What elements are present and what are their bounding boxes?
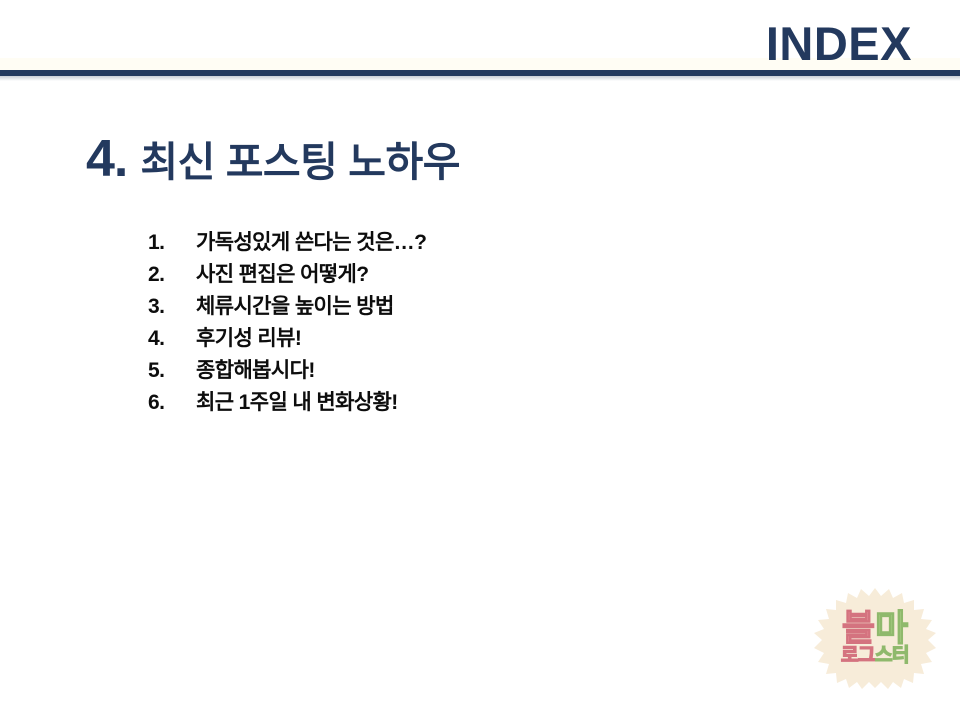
logo-main-first: 블 [842,607,875,648]
list-item-number: 3. [148,292,196,322]
list-item-label: 최근 1주일 내 변화상황! [196,388,398,418]
list-item[interactable]: 1. 가독성있게 쓴다는 것은…? [148,228,426,260]
section-title: 4. 최신 포스팅 노하우 [86,133,460,185]
list-item-number: 6. [148,388,196,418]
logo-text: 블마 로그스터 [812,586,938,690]
logo-main-second: 마 [875,607,908,648]
logo-sub-text: 로그스터 [841,646,909,665]
section-heading: 최신 포스팅 노하우 [140,142,460,183]
list-item[interactable]: 4. 후기성 리뷰! [148,324,426,356]
index-list: 1. 가독성있게 쓴다는 것은…? 2. 사진 편집은 어떻게? 3. 체류시간… [148,228,426,420]
list-item-label: 사진 편집은 어떻게? [196,260,368,290]
list-item[interactable]: 5. 종합해봅시다! [148,356,426,388]
section-number: 4. [86,133,127,185]
list-item[interactable]: 6. 최근 1주일 내 변화상황! [148,388,426,420]
list-item[interactable]: 3. 체류시간을 높이는 방법 [148,292,426,324]
list-item-label: 가독성있게 쓴다는 것은…? [196,228,426,258]
list-item[interactable]: 2. 사진 편집은 어떻게? [148,260,426,292]
slide-header: INDEX [0,0,960,90]
list-item-label: 종합해봅시다! [196,356,315,386]
list-item-number: 1. [148,228,196,258]
brand-logo: 블마 로그스터 [812,586,938,690]
list-item-number: 2. [148,260,196,290]
logo-main-text: 블마 [842,611,908,646]
list-item-label: 후기성 리뷰! [196,324,301,354]
logo-sub-second: 스터 [875,645,909,666]
list-item-number: 4. [148,324,196,354]
header-divider-shadow [0,76,960,81]
list-item-number: 5. [148,356,196,386]
page-title: INDEX [766,20,912,67]
slide-canvas: INDEX 4. 최신 포스팅 노하우 1. 가독성있게 쓴다는 것은…? 2.… [0,0,960,720]
logo-sub-first: 로그 [841,645,875,666]
list-item-label: 체류시간을 높이는 방법 [196,292,394,322]
